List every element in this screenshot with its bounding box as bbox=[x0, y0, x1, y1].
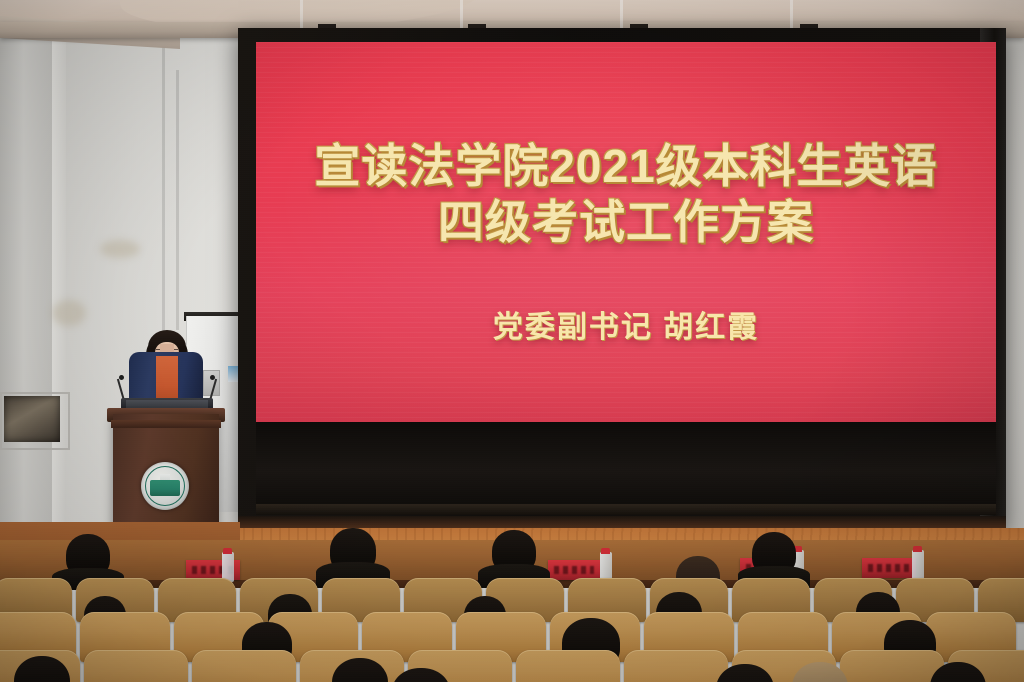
emblem-band bbox=[150, 480, 180, 496]
bottle-cap bbox=[601, 548, 610, 554]
auditorium-seat[interactable] bbox=[84, 650, 188, 682]
microphone-left-head bbox=[119, 375, 124, 380]
slide-title-line2: 四级考试工作方案 bbox=[314, 194, 937, 250]
podium-lip bbox=[111, 420, 221, 428]
auditorium-seat[interactable] bbox=[192, 650, 296, 682]
wall-pillar-left bbox=[0, 18, 52, 538]
auditorium-seat[interactable] bbox=[624, 650, 728, 682]
led-screen-lower-band bbox=[256, 422, 996, 512]
slide-title-line1: 宣读法学院2021级本科生英语 bbox=[314, 138, 937, 194]
led-screen-bottom-edge bbox=[256, 504, 996, 515]
wall-smudge-b bbox=[52, 300, 86, 326]
audience-seating bbox=[0, 562, 1024, 682]
wall-recess bbox=[4, 396, 60, 442]
slide-content: 宣读法学院2021级本科生英语 四级考试工作方案 党委副书记 胡红霞 bbox=[256, 42, 996, 422]
photo-scene: 宣读法学院2021级本科生英语 四级考试工作方案 党委副书记 胡红霞 bbox=[0, 0, 1024, 682]
auditorium-seat[interactable] bbox=[840, 650, 944, 682]
wall-pillar-left-inner bbox=[52, 18, 66, 538]
led-screen-frame: 宣读法学院2021级本科生英语 四级考试工作方案 党委副书记 胡红霞 bbox=[238, 28, 1006, 530]
auditorium-seat[interactable] bbox=[516, 650, 620, 682]
bottle-cap bbox=[223, 548, 232, 554]
wall-smudge-a bbox=[100, 240, 140, 258]
wall-seam-b bbox=[176, 70, 179, 330]
microphone-right-head bbox=[210, 375, 215, 380]
university-emblem-icon bbox=[141, 462, 189, 510]
bottle-cap bbox=[913, 546, 922, 552]
slide-subtitle: 党委副书记 胡红霞 bbox=[493, 302, 759, 346]
slide-title: 宣读法学院2021级本科生英语 四级考试工作方案 bbox=[314, 138, 937, 250]
